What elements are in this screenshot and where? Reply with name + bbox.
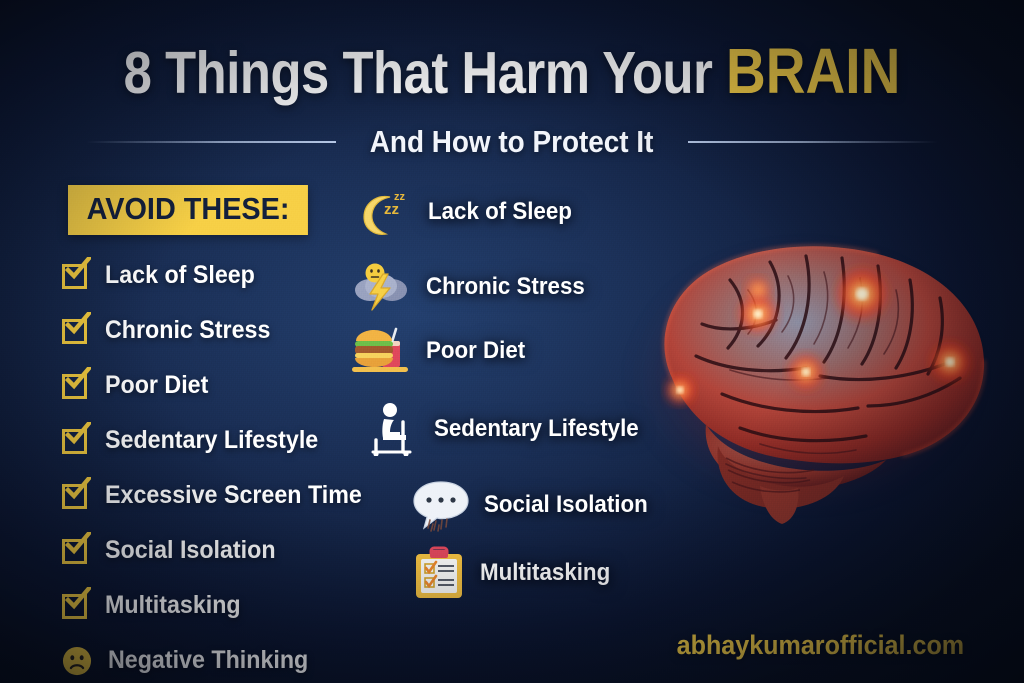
divider-right	[688, 141, 938, 143]
website-url[interactable]: abhaykumarofficial.com	[677, 630, 964, 661]
icon-list-item[interactable]: Multitasking	[412, 546, 620, 600]
title-main-text: 8 Things That Harm Your	[124, 40, 726, 106]
checkbox-icon[interactable]	[62, 262, 89, 289]
list-item-label: Multitasking	[105, 591, 241, 620]
list-item-label: Negative Thinking	[108, 646, 308, 675]
list-item-label: Chronic Stress	[105, 316, 270, 345]
svg-text:zz: zz	[384, 201, 399, 218]
checkbox-icon[interactable]	[62, 372, 89, 399]
icon-list-item[interactable]: Sedentary Lifestyle	[370, 402, 654, 456]
title-highlight-text: BRAIN	[726, 35, 900, 107]
clipboard-checklist-icon	[412, 546, 468, 600]
list-item-label: Excessive Screen Time	[105, 481, 362, 510]
checkbox-icon[interactable]	[62, 427, 89, 454]
checkbox-icon[interactable]	[62, 537, 89, 564]
icon-list-item[interactable]: Social Isolation	[410, 478, 660, 532]
speech-balloon-icon	[410, 478, 472, 532]
icon-list-item[interactable]: Chronic Stress	[350, 260, 597, 314]
page-subtitle: And How to Protect It	[370, 124, 654, 160]
icon-list-item-label: Social Isolation	[484, 491, 648, 519]
icon-list-item-label: Chronic Stress	[426, 273, 585, 301]
list-item[interactable]: Negative Thinking	[62, 633, 422, 683]
list-item-label: Lack of Sleep	[105, 261, 255, 290]
checkbox-icon[interactable]	[62, 592, 89, 619]
icon-list-item-label: Sedentary Lifestyle	[434, 415, 639, 443]
icon-list-item-label: Poor Diet	[426, 337, 525, 365]
list-item[interactable]: Social Isolation	[62, 523, 422, 578]
icon-list-item-label: Lack of Sleep	[428, 198, 572, 226]
checkbox-icon[interactable]	[62, 482, 89, 509]
subtitle-row: And How to Protect It	[0, 124, 1024, 160]
cloud-lightning-face-icon	[350, 260, 414, 314]
frowning-face-icon	[62, 646, 92, 676]
icon-list-item-label: Multitasking	[480, 559, 610, 587]
infographic-poster: 8 Things That Harm Your BRAIN And How to…	[0, 0, 1024, 683]
person-sitting-chair-icon	[370, 402, 422, 456]
brain-figure	[610, 228, 1002, 528]
crescent-moon-zzz-icon: zz zz	[356, 186, 416, 238]
icon-list-item[interactable]: zz zz Lack of Sleep	[356, 186, 583, 238]
divider-left	[86, 141, 336, 143]
list-item-label: Social Isolation	[105, 536, 276, 565]
list-item[interactable]: Excessive Screen Time	[62, 468, 422, 523]
icon-list-item[interactable]: Poor Diet	[352, 325, 533, 377]
list-item[interactable]: Sedentary Lifestyle	[62, 413, 422, 468]
list-item-label: Sedentary Lifestyle	[105, 426, 318, 455]
burger-drink-icon	[352, 325, 414, 377]
checkbox-icon[interactable]	[62, 317, 89, 344]
avoid-these-badge: AVOID THESE:	[68, 185, 308, 235]
list-item[interactable]: Multitasking	[62, 578, 422, 633]
list-item-label: Poor Diet	[105, 371, 208, 400]
page-title: 8 Things That Harm Your BRAIN	[72, 34, 953, 108]
